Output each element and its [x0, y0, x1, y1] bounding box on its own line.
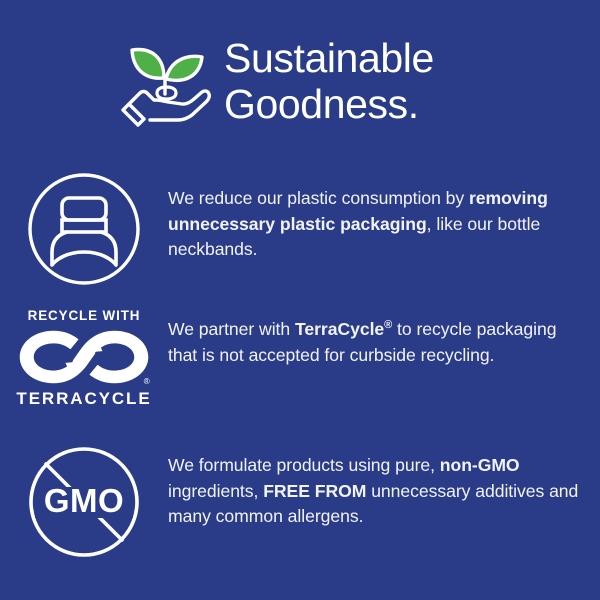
text-segment: ingredients,: [168, 481, 263, 501]
page-title: Sustainable Goodness.: [224, 35, 434, 129]
terracycle-top-label: RECYCLE WITH: [28, 308, 141, 324]
hand-holding-sprout-icon: [120, 34, 216, 130]
feature-icon-slot: RECYCLE WITH ®: [0, 306, 168, 409]
feature-row-gmo: GMO We formulate products using pure, no…: [0, 445, 600, 559]
feature-icon-slot: [0, 172, 168, 286]
feature-text-plastic: We reduce our plastic consumption by rem…: [168, 172, 600, 263]
sustainable-goodness-poster: Sustainable Goodness. We reduce our plas…: [0, 0, 600, 600]
no-gmo-circle-icon: GMO: [27, 445, 141, 559]
poster-header: Sustainable Goodness.: [0, 24, 600, 140]
feature-icon-slot: GMO: [0, 445, 168, 559]
text-segment-bold: TerraCycle: [295, 319, 384, 339]
svg-text:®: ®: [144, 377, 150, 386]
text-segment-bold: FREE FROM: [263, 481, 366, 501]
feature-text-terracycle: We partner with TerraCycle® to recycle p…: [168, 306, 600, 368]
text-segment: We partner with: [168, 319, 295, 339]
feature-text-gmo: We formulate products using pure, non-GM…: [168, 445, 600, 530]
text-segment-bold: non-GMO: [440, 455, 520, 475]
feature-row-plastic: We reduce our plastic consumption by rem…: [0, 172, 600, 286]
plastic-bottle-circle-icon: [27, 172, 141, 286]
text-segment: We reduce our plastic consumption by: [168, 188, 469, 208]
terracycle-logo: RECYCLE WITH ®: [10, 306, 158, 409]
gmo-label: GMO: [44, 482, 124, 519]
feature-row-terracycle: RECYCLE WITH ®: [0, 306, 600, 409]
infinity-recycle-arrows-icon: ®: [17, 327, 151, 387]
text-segment: We formulate products using pure,: [168, 455, 440, 475]
registered-trademark-mark: ®: [384, 319, 392, 331]
terracycle-bottom-label: TERRACYCLE: [16, 389, 151, 409]
